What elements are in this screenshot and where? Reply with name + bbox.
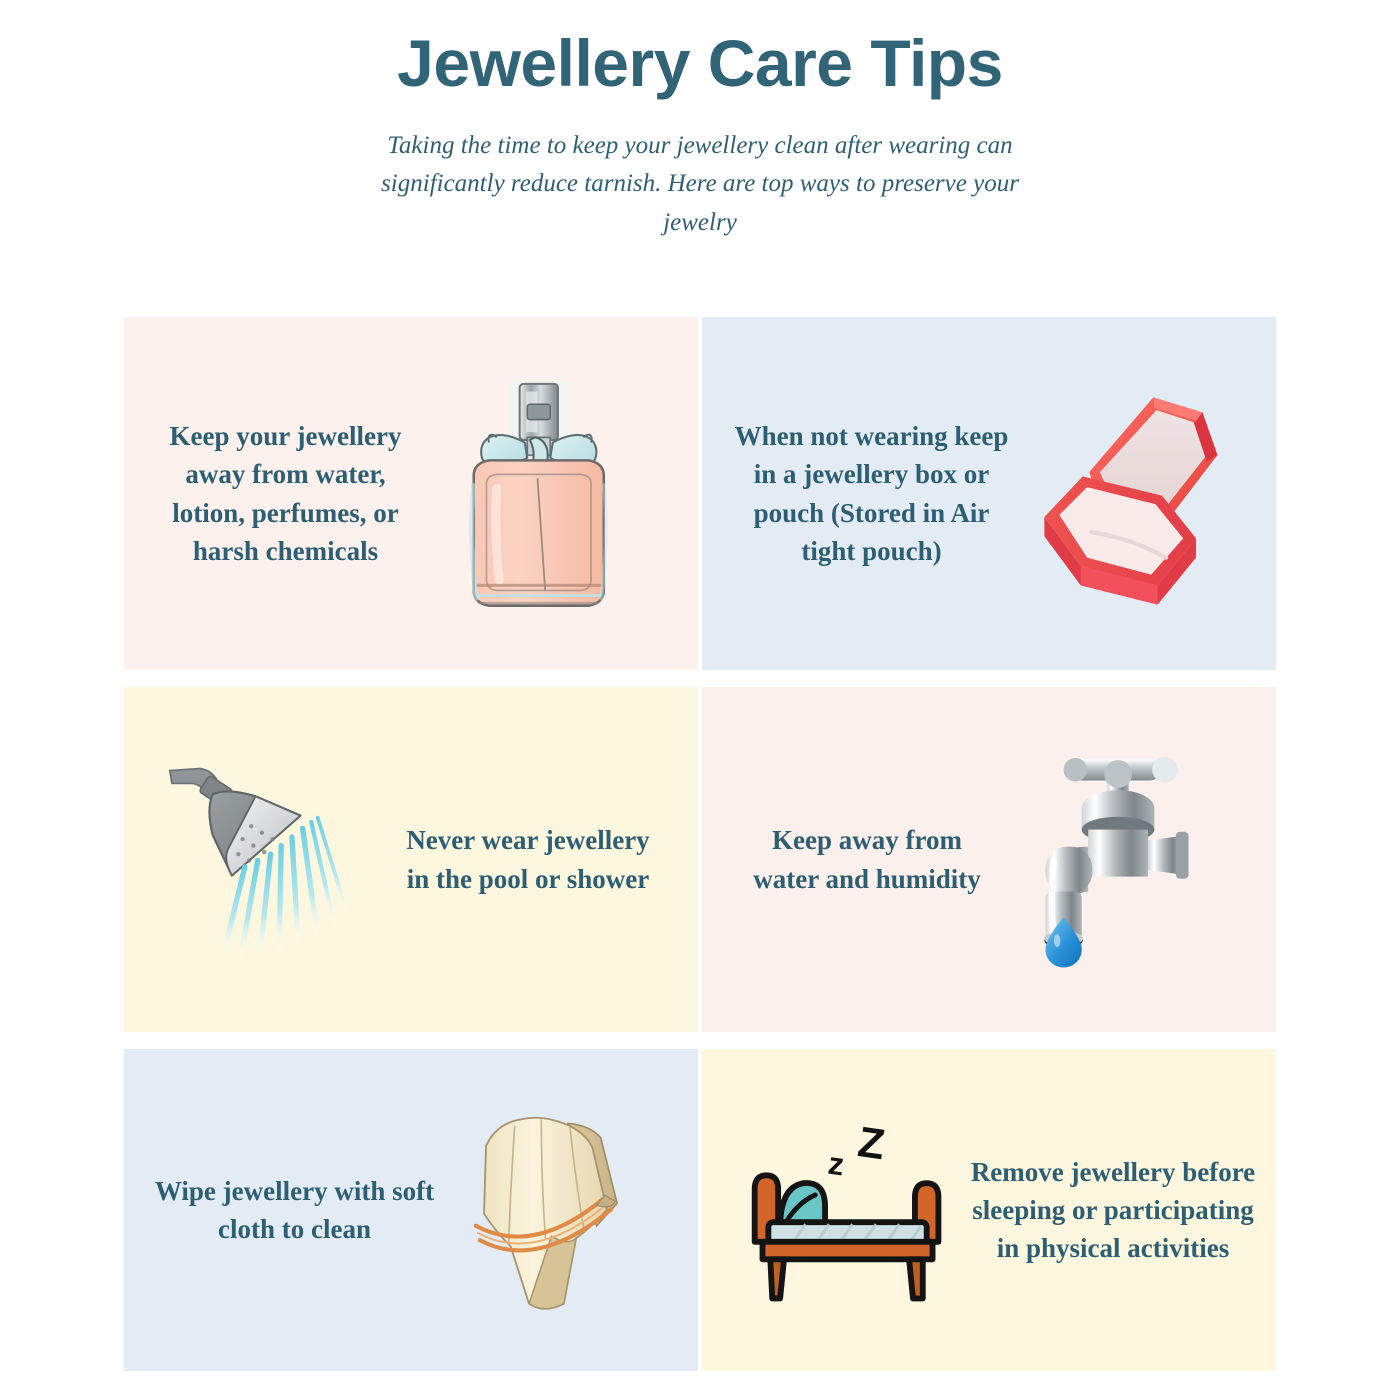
tip-card-label: Keep your jewellery away from water, lot…: [124, 417, 435, 570]
svg-text:z: z: [826, 1145, 846, 1182]
svg-text:Z: Z: [855, 1118, 888, 1169]
cloth-icon: [451, 1103, 646, 1318]
tip-card-label: When not wearing keep in a jewellery box…: [702, 417, 1033, 570]
tip-card-water-humidity: Keep away from water and humidity: [702, 687, 1276, 1032]
page-title: Jewellery Care Tips: [0, 22, 1400, 105]
tip-card-label: Remove jewellery before sleeping or part…: [956, 1153, 1276, 1268]
header: Jewellery Care Tips Taking the time to k…: [0, 0, 1400, 243]
tip-card-water-lotion-perfume: Keep your jewellery away from water, lot…: [124, 317, 698, 670]
tip-card-soft-cloth: Wipe jewellery with soft cloth to clean: [124, 1049, 698, 1371]
ring-box-icon: [1033, 376, 1248, 611]
shower-head-icon: [163, 747, 378, 972]
tip-card-pool-shower: Never wear jewellery in the pool or show…: [124, 687, 698, 1032]
tip-card-sleeping-activities: Remove jewellery before sleeping or part…: [702, 1049, 1276, 1371]
perfume-bottle-icon: [435, 366, 640, 621]
bed-sleep-icon: Z z z: [741, 1108, 956, 1313]
tip-card-label: Wipe jewellery with soft cloth to clean: [124, 1172, 451, 1249]
faucet-icon: [1012, 742, 1207, 977]
tip-card-label: Never wear jewellery in the pool or show…: [378, 821, 698, 898]
tip-card-jewellery-box: When not wearing keep in a jewellery box…: [702, 317, 1276, 670]
tip-card-label: Keep away from water and humidity: [702, 821, 1012, 898]
page-subtitle: Taking the time to keep your jewellery c…: [380, 127, 1020, 243]
infographic-page: Jewellery Care Tips Taking the time to k…: [0, 0, 1400, 1400]
tips-grid: Keep your jewellery away from water, lot…: [124, 317, 1276, 1371]
